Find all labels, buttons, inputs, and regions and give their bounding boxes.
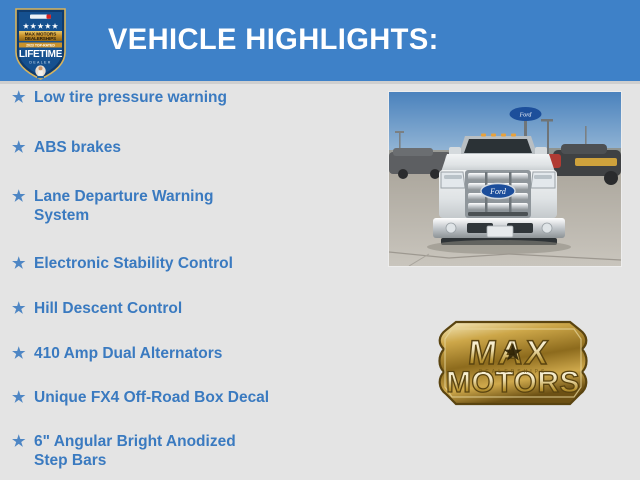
star-bullet-icon: ★ xyxy=(12,388,25,407)
svg-text:Ford: Ford xyxy=(489,187,507,196)
list-item: ★ 6" Angular Bright Anodized Step Bars xyxy=(8,432,236,470)
list-item-label: 410 Amp Dual Alternators xyxy=(34,344,222,363)
star-bullet-icon: ★ xyxy=(12,254,25,273)
carfax-lifetime-dealer-badge: MAX MOTORS DEALERSHIPS 2023 TOP-RATED LI… xyxy=(13,6,68,82)
page-title: VEHICLE HIGHLIGHTS: xyxy=(108,23,439,57)
carfax-badge-icon: MAX MOTORS DEALERSHIPS 2023 TOP-RATED LI… xyxy=(13,6,68,82)
list-item: ★ Low tire pressure warning xyxy=(8,88,227,107)
star-bullet-icon: ★ xyxy=(12,187,25,206)
max-motors-logo-icon: MAX MOTORS DEALERSHIPS xyxy=(428,316,598,418)
star-bullet-icon: ★ xyxy=(12,88,25,107)
vehicle-photo-frame[interactable]: Ford xyxy=(388,91,622,267)
list-item: ★ 410 Amp Dual Alternators xyxy=(8,344,222,363)
header-divider xyxy=(0,81,640,84)
vehicle-front-view-photo[interactable]: Ford xyxy=(389,92,621,266)
list-item-label: Hill Descent Control xyxy=(34,299,182,318)
list-item: ★ Unique FX4 Off-Road Box Decal xyxy=(8,388,269,407)
max-motors-logo: MAX MOTORS DEALERSHIPS xyxy=(428,316,598,418)
list-item: ★ ABS brakes xyxy=(8,138,121,157)
list-item: ★ Electronic Stability Control xyxy=(8,254,233,273)
list-item: ★ Lane Departure Warning System xyxy=(8,187,213,225)
svg-text:2023 TOP-RATED: 2023 TOP-RATED xyxy=(26,43,55,47)
list-item-label: Lane Departure Warning System xyxy=(34,187,213,225)
list-item-label: Electronic Stability Control xyxy=(34,254,233,273)
star-bullet-icon: ★ xyxy=(12,432,25,451)
svg-text:DEALER: DEALER xyxy=(29,61,51,65)
svg-text:DEALERSHIPS: DEALERSHIPS xyxy=(479,369,548,375)
svg-text:DEALERSHIPS: DEALERSHIPS xyxy=(25,36,56,41)
star-bullet-icon: ★ xyxy=(12,138,25,157)
svg-text:Ford: Ford xyxy=(519,113,533,119)
list-item-label: Unique FX4 Off-Road Box Decal xyxy=(34,388,269,407)
list-item-label: 6" Angular Bright Anodized Step Bars xyxy=(34,432,236,470)
star-bullet-icon: ★ xyxy=(12,344,25,363)
list-item-label: ABS brakes xyxy=(34,138,121,157)
list-item-label: Low tire pressure warning xyxy=(34,88,227,107)
star-bullet-icon: ★ xyxy=(12,299,25,318)
list-item: ★ Hill Descent Control xyxy=(8,299,182,318)
svg-text:LIFETIME: LIFETIME xyxy=(19,49,63,60)
vehicle-highlights-slide: MAX MOTORS DEALERSHIPS 2023 TOP-RATED LI… xyxy=(0,0,640,480)
